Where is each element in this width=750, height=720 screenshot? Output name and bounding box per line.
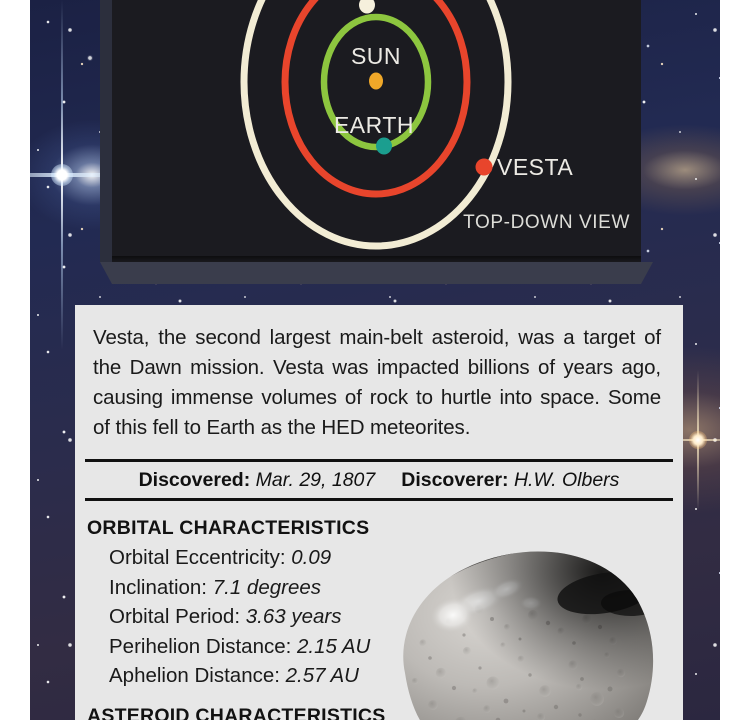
spec-key: Perihelion Distance:	[109, 635, 291, 658]
discoverer-value: H.W. Olbers	[514, 469, 619, 491]
discovered-pair: Discovered: Mar. 29, 1807	[139, 469, 376, 492]
sun-label: SUN	[351, 43, 401, 69]
spec-key: Orbital Eccentricity:	[109, 546, 286, 569]
orbital-characteristics-heading: ORBITAL CHARACTERISTICS	[87, 517, 683, 540]
list-item: Aphelion Distance: 2.57 AU	[109, 661, 683, 691]
orbit-diagram-panel: SUN EARTH MARS VESTA TOP-DOWN VIEW	[100, 0, 653, 295]
orbital-spec-list: Orbital Eccentricity: 0.09 Inclination: …	[109, 543, 683, 691]
info-card: Vesta, the second largest main-belt aste…	[75, 305, 683, 720]
spec-value: 0.09	[291, 546, 331, 569]
spec-value: 2.57 AU	[286, 664, 359, 687]
vesta-label: VESTA	[497, 154, 573, 180]
discovery-row: Discovered: Mar. 29, 1807 Discoverer: H.…	[85, 462, 673, 498]
list-item: Orbital Eccentricity: 0.09	[109, 543, 683, 573]
spec-value: 3.63 years	[246, 605, 342, 628]
vesta-dot	[476, 159, 493, 176]
orbit-diagram-svg: SUN EARTH MARS VESTA TOP-DOWN VIEW	[112, 0, 641, 262]
spec-value: 2.15 AU	[297, 635, 370, 658]
mars-label: MARS	[371, 0, 439, 5]
discoverer-label: Discoverer:	[401, 469, 508, 491]
sun-dot	[369, 73, 383, 90]
discoverer-pair: Discoverer: H.W. Olbers	[401, 469, 619, 492]
top-down-view-label: TOP-DOWN VIEW	[463, 212, 630, 233]
earth-dot	[376, 138, 392, 155]
discovery-block: Discovered: Mar. 29, 1807 Discoverer: H.…	[85, 459, 673, 501]
mars-orbit-ring	[285, 0, 467, 194]
asteroid-characteristics-heading: ASTEROID CHARACTERISTICS	[87, 705, 683, 720]
spec-value: 7.1 degrees	[213, 576, 321, 599]
discovered-value: Mar. 29, 1807	[256, 469, 376, 491]
specs-region: ORBITAL CHARACTERISTICS Orbital Eccentri…	[75, 501, 683, 720]
discovered-label: Discovered:	[139, 469, 251, 491]
earth-label: EARTH	[334, 112, 414, 138]
panel-base-shelf	[100, 262, 653, 284]
infographic-poster: SUN EARTH MARS VESTA TOP-DOWN VIEW Vesta…	[0, 0, 750, 720]
list-item: Inclination: 7.1 degrees	[109, 573, 683, 603]
description-paragraph: Vesta, the second largest main-belt aste…	[75, 305, 683, 449]
spec-key: Orbital Period:	[109, 605, 240, 628]
list-item: Orbital Period: 3.63 years	[109, 602, 683, 632]
spec-key: Aphelion Distance:	[109, 664, 280, 687]
list-item: Perihelion Distance: 2.15 AU	[109, 632, 683, 662]
panel-left-face	[100, 0, 112, 262]
spec-key: Inclination:	[109, 576, 207, 599]
